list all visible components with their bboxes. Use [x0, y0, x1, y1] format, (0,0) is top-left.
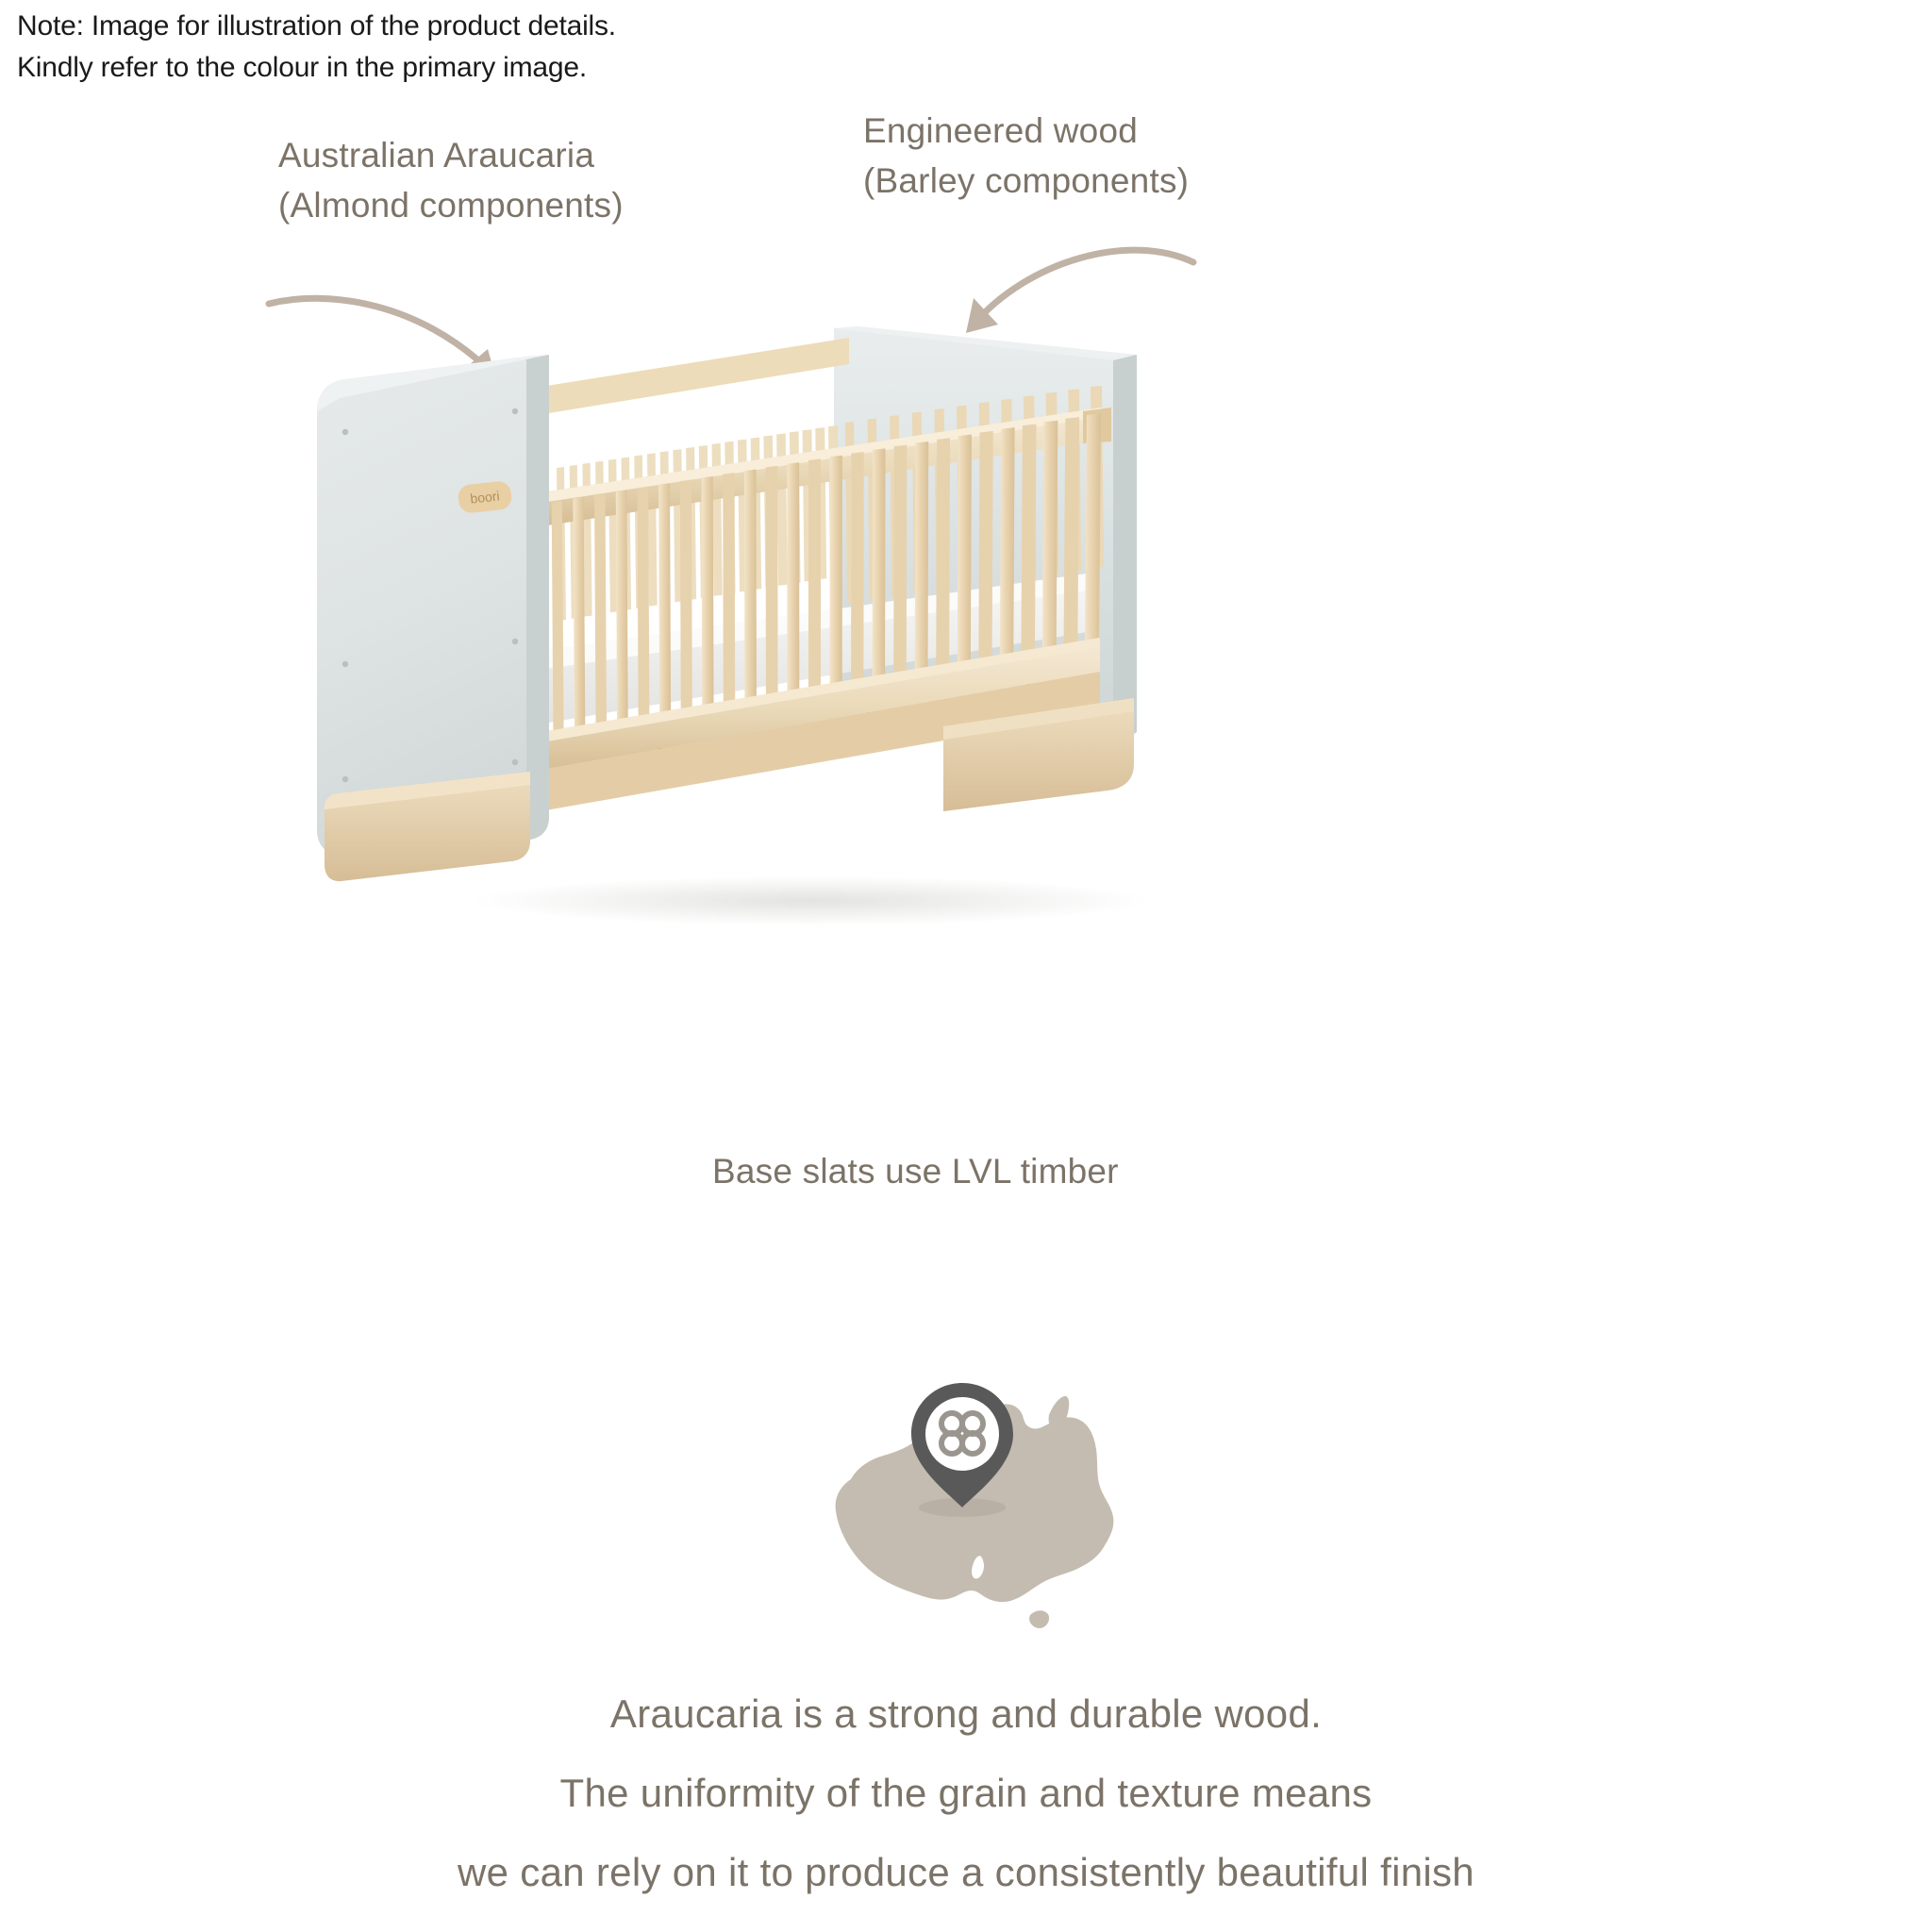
cot-slat	[1085, 413, 1101, 649]
cot-slat	[594, 493, 607, 736]
cot-slat	[702, 476, 714, 717]
australia-origin-badge: Australia map with location pin	[0, 1358, 1932, 1641]
cot-slat	[637, 487, 649, 728]
cot-svg: boori	[283, 321, 1226, 943]
cot-slat	[680, 480, 692, 721]
tagline-line-1: Araucaria is a strong and durable wood.	[0, 1674, 1932, 1754]
cot-slat	[1063, 417, 1079, 653]
tasmania-detail	[1029, 1610, 1049, 1628]
australia-map-icon: Australia map with location pin	[796, 1368, 1136, 1632]
cot-slat	[616, 491, 628, 732]
cot-slat	[893, 445, 907, 683]
cot-slat	[723, 473, 735, 713]
cot-slat	[658, 483, 671, 724]
cot-slat	[873, 448, 886, 687]
callout-base-slats: Base slats use LVL timber	[712, 1146, 1119, 1196]
cot-slat	[808, 458, 821, 698]
cot-ground-shadow	[472, 876, 1151, 925]
tagline-line-2: The uniformity of the grain and texture …	[0, 1754, 1932, 1833]
cot-slat	[552, 501, 564, 743]
cot-slat	[744, 469, 757, 709]
boori-badge-text: boori	[470, 488, 501, 506]
callout-almond-line-2: (Almond components)	[278, 180, 624, 230]
tagline-line-3: we can rely on it to produce a consisten…	[0, 1833, 1932, 1912]
note-line-1: Note: Image for illustration of the prod…	[17, 6, 616, 47]
cot-slat	[936, 438, 950, 675]
cot-slat	[1042, 421, 1058, 657]
callout-base-slats-text: Base slats use LVL timber	[712, 1146, 1119, 1196]
cot-slat	[766, 466, 778, 706]
cot-slat	[915, 441, 929, 679]
illustration-note: Note: Image for illustration of the prod…	[17, 6, 616, 89]
cot-slat	[1021, 424, 1036, 660]
cot-slat	[787, 462, 799, 702]
cot-slat	[1000, 427, 1015, 664]
note-line-2: Kindly refer to the colour in the primar…	[17, 47, 616, 89]
cot-slat	[851, 452, 864, 691]
callout-barley-line-1: Engineered wood	[863, 106, 1189, 156]
callout-australian-araucaria: Australian Araucaria (Almond components)	[278, 130, 624, 230]
cot-slat	[830, 456, 842, 694]
callout-almond-line-1: Australian Araucaria	[278, 130, 624, 180]
cot-product-illustration: boori	[283, 321, 1226, 943]
araucaria-tagline: Araucaria is a strong and durable wood. …	[0, 1674, 1932, 1912]
cot-slat	[573, 497, 585, 740]
cot-slat	[978, 431, 992, 668]
callout-engineered-wood: Engineered wood (Barley components)	[863, 106, 1189, 206]
callout-barley-line-2: (Barley components)	[863, 156, 1189, 206]
product-detail-infographic: Note: Image for illustration of the prod…	[0, 0, 1932, 1932]
cot-slat	[958, 435, 972, 672]
